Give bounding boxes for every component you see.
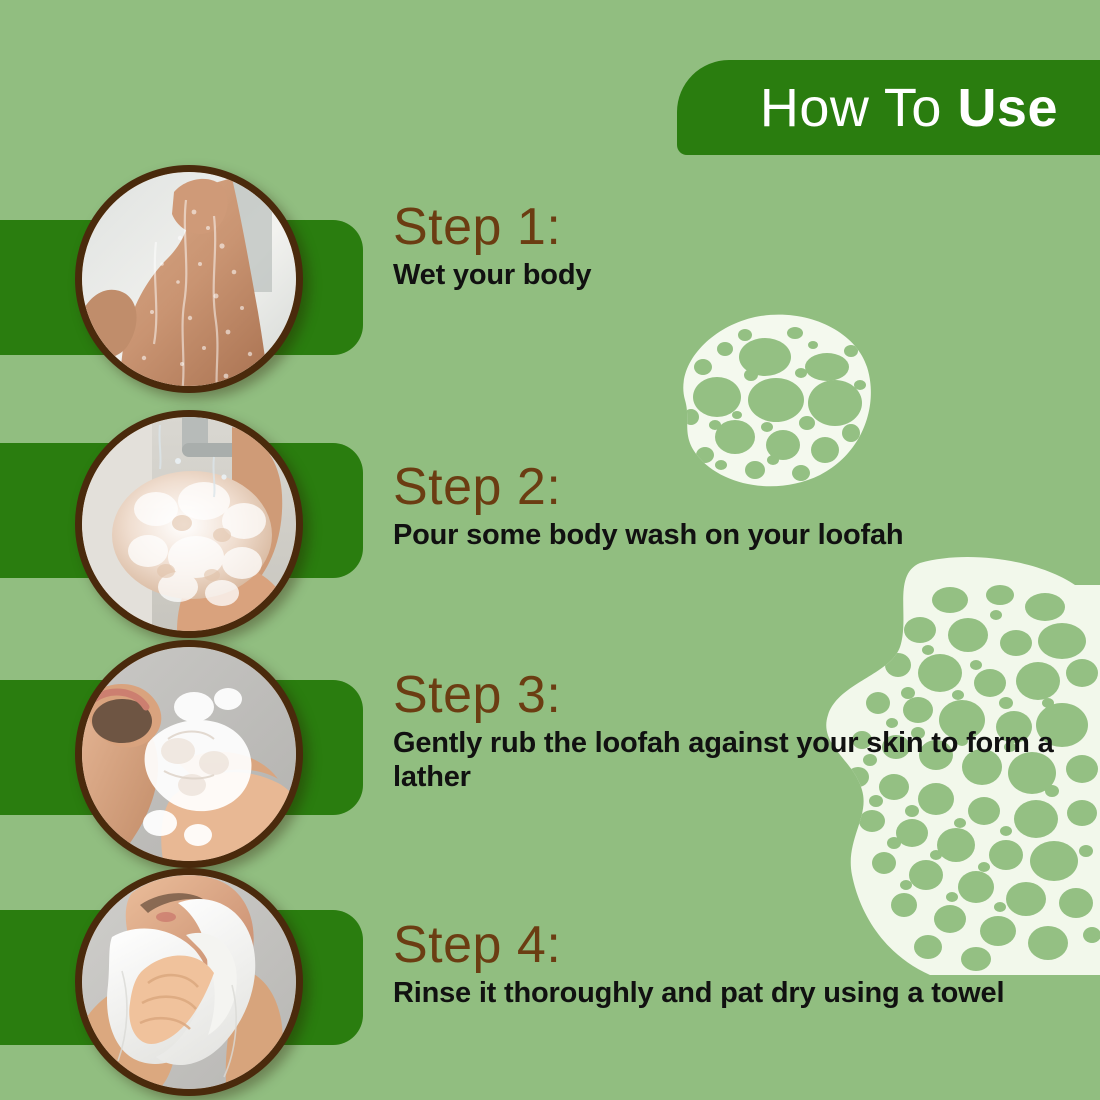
step-label-2: Step 2:: [393, 460, 903, 514]
step-photo-1: [82, 172, 296, 386]
step-row-2: Step 2: Pour some body wash on your loof…: [0, 410, 1100, 625]
step-label-3: Step 3:: [393, 668, 1100, 722]
step-description-2: Pour some body wash on your loofah: [393, 518, 903, 552]
step-photo-3: [82, 647, 296, 861]
step-label-4: Step 4:: [393, 918, 1004, 972]
step-image-3: [75, 640, 303, 868]
step-row-4: Step 4: Rinse it thoroughly and pat dry …: [0, 868, 1100, 1088]
page-title-bold: Use: [957, 78, 1058, 138]
step-text-1: Step 1: Wet your body: [393, 200, 591, 292]
step-description-4: Rinse it thoroughly and pat dry using a …: [393, 976, 1004, 1010]
step-row-3: Step 3: Gently rub the loofah against yo…: [0, 640, 1100, 860]
page-title: How To Use: [760, 81, 1058, 135]
step-text-3: Step 3: Gently rub the loofah against yo…: [393, 668, 1100, 795]
step-text-2: Step 2: Pour some body wash on your loof…: [393, 460, 903, 552]
step-photo-2: [82, 417, 296, 631]
step-label-1: Step 1:: [393, 200, 591, 254]
how-to-use-poster: How To Use: [0, 0, 1100, 1100]
step-text-4: Step 4: Rinse it thoroughly and pat dry …: [393, 918, 1004, 1010]
step-row-1: Step 1: Wet your body: [0, 165, 1100, 380]
page-title-light: How To: [760, 78, 958, 138]
step-description-3: Gently rub the loofah against your skin …: [393, 726, 1100, 794]
header-banner: How To Use: [677, 60, 1100, 155]
step-description-1: Wet your body: [393, 258, 591, 292]
step-photo-4: [82, 875, 296, 1089]
step-image-2: [75, 410, 303, 638]
step-image-1: [75, 165, 303, 393]
step-image-4: [75, 868, 303, 1096]
